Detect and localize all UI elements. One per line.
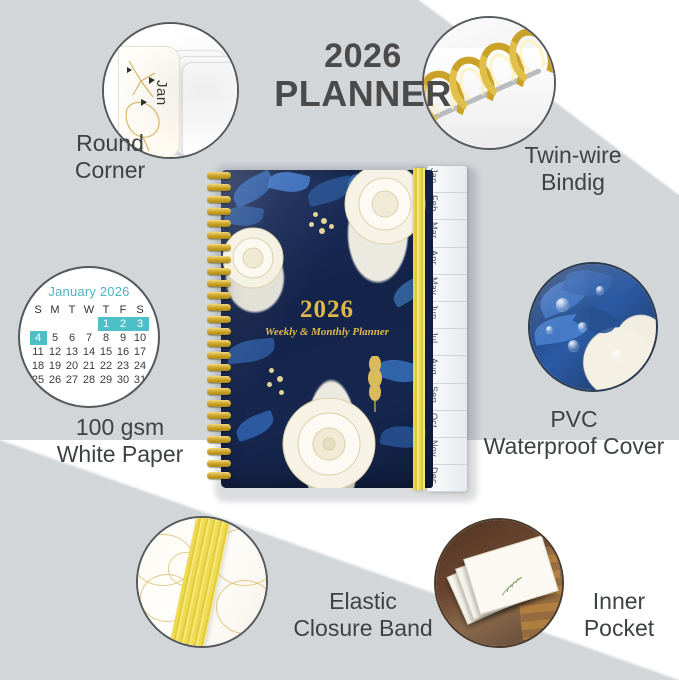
calendar-weekday: S [30, 303, 47, 317]
cover-leaf [233, 410, 277, 442]
calendar-day: 24 [132, 359, 149, 373]
calendar-weekday: S [132, 303, 149, 317]
calendar-day: 16 [115, 345, 132, 359]
cover-gloss-highlight [530, 264, 656, 390]
cover-subtitle: Weekly & Monthly Planner [221, 326, 433, 338]
caption-line-1: 100 gsm [20, 414, 220, 441]
gold-berry [313, 212, 318, 217]
wire-ring [207, 388, 231, 395]
calendar-week-row: 25262728293031 [30, 373, 149, 387]
wire-ring [207, 292, 231, 299]
calendar-weekday: M [47, 303, 64, 317]
wire-ring [207, 340, 231, 347]
calendar-weekday: F [115, 303, 132, 317]
caption-line-2: White Paper [20, 441, 220, 468]
caption-line-1: Inner [560, 588, 678, 615]
calendar-day: 2 [115, 317, 132, 331]
wire-ring [207, 400, 231, 407]
cover-leaf [267, 170, 310, 196]
month-tab[interactable]: Sep [427, 384, 467, 411]
calendar-widget: January 2026 SMTWTFS 1234567891011121314… [20, 268, 158, 406]
calendar-weekday: T [64, 303, 81, 317]
caption-line-1: Round [20, 130, 200, 157]
month-tab-strip: JanFebMarAprMayJunJulAugSepOctNovDec [427, 166, 467, 492]
wire-ring [207, 472, 231, 479]
caption-line-2: Closure Band [268, 615, 458, 642]
feature-caption-elastic-band: Elastic Closure Band [268, 588, 458, 642]
calendar-grid: SMTWTFS 12345678910111213141516171819202… [30, 303, 149, 387]
month-tab[interactable]: Mar [427, 220, 467, 247]
wire-ring [207, 256, 231, 263]
calendar-day: 7 [81, 331, 98, 345]
caption-line-1: Elastic [268, 588, 458, 615]
wire-ring [207, 268, 231, 275]
calendar-day: 18 [30, 359, 47, 373]
feature-bubble-calendar: January 2026 SMTWTFS 1234567891011121314… [18, 266, 160, 408]
feature-caption-white-paper: 100 gsm White Paper [20, 414, 220, 468]
month-tab[interactable]: Nov [427, 438, 467, 465]
calendar-day: 17 [132, 345, 149, 359]
gold-berry [309, 222, 314, 227]
calendar-day: 11 [30, 345, 47, 359]
cover-title-block: 2026 Weekly & Monthly Planner [221, 296, 433, 338]
caption-line-1: Twin-wire [470, 142, 676, 169]
page-title: 2026 PLANNER [268, 38, 458, 114]
calendar-day: 22 [98, 359, 115, 373]
feature-caption-round-corner: Round Corner [20, 130, 200, 184]
calendar-day-empty [64, 317, 81, 331]
page-title-word: PLANNER [268, 75, 458, 114]
calendar-day: 29 [98, 373, 115, 387]
planner-front-cover: 2026 Weekly & Monthly Planner [221, 170, 433, 488]
calendar-day: 15 [98, 345, 115, 359]
calendar-day: 12 [47, 345, 64, 359]
calendar-day-empty [30, 317, 47, 331]
feature-bubble-pvc-cover [528, 262, 658, 392]
wire-ring [207, 352, 231, 359]
calendar-day: 31 [132, 373, 149, 387]
calendar-weekday: W [81, 303, 98, 317]
feature-caption-twin-wire: Twin-wire Bindig [470, 142, 676, 196]
gold-berry [277, 376, 283, 382]
month-tab[interactable]: Jun [427, 302, 467, 329]
elastic-closure-band [413, 168, 425, 490]
calendar-month-title: January 2026 [29, 284, 149, 299]
calendar-day: 19 [47, 359, 64, 373]
calendar-day: 13 [64, 345, 81, 359]
wire-ring [207, 304, 231, 311]
month-tab[interactable]: May [427, 275, 467, 302]
month-tab[interactable]: Jul [427, 329, 467, 356]
month-tab[interactable]: Apr [427, 248, 467, 275]
calendar-weekday-row: SMTWTFS [30, 303, 149, 317]
wire-ring [207, 232, 231, 239]
wire-ring [207, 364, 231, 371]
caption-line-2: Waterproof Cover [470, 433, 678, 460]
feature-caption-inner-pocket: Inner Pocket [560, 588, 678, 642]
gold-berry [319, 228, 325, 234]
gold-berry [329, 224, 334, 229]
calendar-day: 14 [81, 345, 98, 359]
wire-ring [207, 328, 231, 335]
calendar-day: 5 [47, 331, 64, 345]
caption-line-1: PVC [470, 406, 678, 433]
wire-ring [207, 220, 231, 227]
feature-caption-pvc-cover: PVC Waterproof Cover [470, 406, 678, 460]
wire-ring [207, 244, 231, 251]
wire-ring [207, 316, 231, 323]
month-tab[interactable]: Aug [427, 356, 467, 383]
gold-berry [269, 368, 274, 373]
gold-wheat-sprig [363, 356, 387, 412]
calendar-day: 28 [81, 373, 98, 387]
calendar-week-row: 45678910 [30, 331, 149, 345]
calendar-week-row: 18192021222324 [30, 359, 149, 373]
calendar-day: 8 [98, 331, 115, 345]
wire-ring [207, 184, 231, 191]
calendar-day: 1 [98, 317, 115, 331]
calendar-weekday: T [98, 303, 115, 317]
wire-ring [207, 196, 231, 203]
page-title-year: 2026 [268, 38, 458, 75]
caption-line-2: Pocket [560, 615, 678, 642]
month-tab[interactable]: Oct [427, 411, 467, 438]
calendar-day: 27 [64, 373, 81, 387]
calendar-day: 20 [64, 359, 81, 373]
caption-line-2: Corner [20, 157, 200, 184]
gold-berry [267, 382, 272, 387]
calendar-day: 6 [64, 331, 81, 345]
calendar-day: 9 [115, 331, 132, 345]
month-tab[interactable]: Dec [427, 465, 467, 492]
month-tab[interactable]: Feb [427, 193, 467, 220]
calendar-week-row: 123 [30, 317, 149, 331]
calendar-day: 21 [81, 359, 98, 373]
wire-ring [207, 280, 231, 287]
calendar-day: 25 [30, 373, 47, 387]
month-tab[interactable]: Jan [427, 166, 467, 193]
calendar-day: 3 [132, 317, 149, 331]
calendar-day: 30 [115, 373, 132, 387]
calendar-day: 23 [115, 359, 132, 373]
calendar-week-row: 11121314151617 [30, 345, 149, 359]
wire-ring [207, 376, 231, 383]
calendar-day: 26 [47, 373, 64, 387]
cover-year: 2026 [221, 296, 433, 324]
calendar-day: 10 [132, 331, 149, 345]
wire-ring [207, 172, 231, 179]
gold-berry [321, 218, 327, 224]
gold-petal-outline [216, 580, 268, 634]
calendar-day-empty [47, 317, 64, 331]
calendar-day-empty [81, 317, 98, 331]
cover-leaf [226, 338, 276, 365]
caption-line-2: Bindig [470, 169, 676, 196]
calendar-day: 4 [30, 331, 47, 345]
feature-bubble-elastic-band [136, 516, 268, 648]
planner-product-image: JanFebMarAprMayJunJulAugSepOctNovDec [205, 158, 475, 498]
wire-ring [207, 208, 231, 215]
